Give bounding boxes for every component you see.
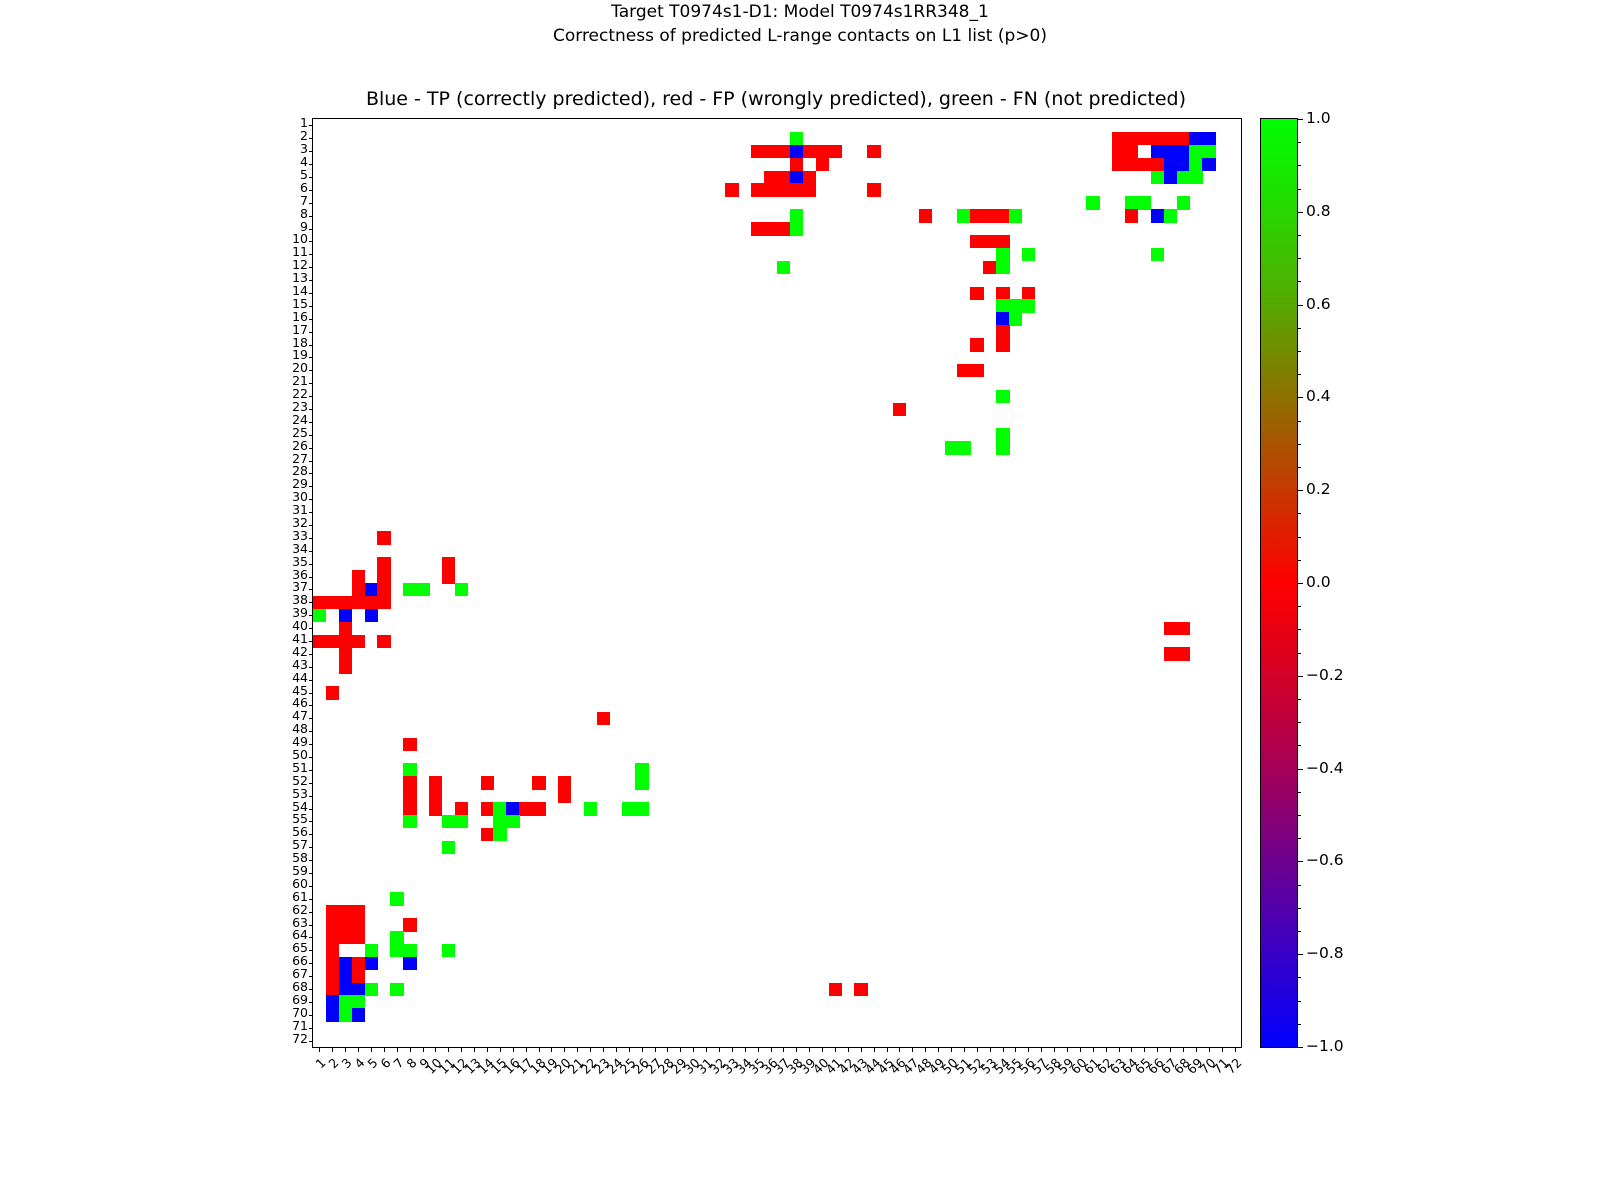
x-tick-mark <box>719 1048 720 1052</box>
y-tick-mark <box>309 770 313 771</box>
contact-cell <box>957 364 970 377</box>
contact-cell <box>996 390 1009 403</box>
contact-cell <box>493 815 506 828</box>
contact-cell <box>1189 171 1202 184</box>
contact-cell <box>390 892 403 905</box>
colorbar-minor-tick <box>1298 560 1301 561</box>
y-tick-mark <box>309 718 313 719</box>
x-tick-mark <box>526 1048 527 1052</box>
y-tick-mark <box>309 783 313 784</box>
contact-cell <box>403 583 416 596</box>
y-tick-mark <box>309 409 313 410</box>
x-tick-mark <box>1054 1048 1055 1052</box>
contact-cell <box>622 802 635 815</box>
contact-cell <box>777 145 790 158</box>
contact-cell <box>403 918 416 931</box>
x-tick-mark <box>745 1048 746 1052</box>
colorbar-tick-label: 0.2 <box>1306 480 1331 498</box>
contact-cell <box>442 570 455 583</box>
contact-cell <box>506 815 519 828</box>
colorbar-tick-label: 0.6 <box>1306 295 1331 313</box>
contact-cell <box>635 763 648 776</box>
y-tick-mark <box>309 1028 313 1029</box>
y-tick-mark <box>309 190 313 191</box>
contact-cell <box>945 441 958 454</box>
contact-cell <box>377 557 390 570</box>
y-tick-mark <box>309 731 313 732</box>
contact-cell <box>403 802 416 815</box>
x-tick-mark <box>332 1048 333 1052</box>
colorbar-tick-label: −0.4 <box>1306 759 1344 777</box>
y-tick-mark <box>309 757 313 758</box>
x-tick-mark <box>1209 1048 1210 1052</box>
colorbar-minor-tick <box>1298 374 1301 375</box>
contact-cell <box>558 789 571 802</box>
colorbar-minor-tick <box>1298 745 1301 746</box>
x-tick-mark <box>616 1048 617 1052</box>
x-tick-mark <box>1028 1048 1029 1052</box>
x-tick-mark <box>783 1048 784 1052</box>
contact-cell <box>777 222 790 235</box>
contact-cell <box>326 983 339 996</box>
colorbar-minor-tick <box>1298 351 1301 352</box>
y-tick-mark <box>309 899 313 900</box>
contact-cell <box>1202 158 1215 171</box>
colorbar-minor-tick <box>1298 977 1301 978</box>
x-tick-mark <box>371 1048 372 1052</box>
contact-cell <box>1022 299 1035 312</box>
x-tick-mark <box>1131 1048 1132 1052</box>
contact-cell <box>1164 171 1177 184</box>
contact-cell <box>1202 132 1215 145</box>
contact-cell <box>1138 158 1151 171</box>
contact-cell <box>996 261 1009 274</box>
x-tick-mark <box>925 1048 926 1052</box>
contact-cell <box>1125 196 1138 209</box>
colorbar-tick-mark <box>1298 397 1303 398</box>
contact-cell <box>790 132 803 145</box>
x-tick-mark <box>1235 1048 1236 1052</box>
colorbar-minor-tick <box>1298 629 1301 630</box>
contact-cell <box>339 931 352 944</box>
colorbar-tick-mark <box>1298 119 1303 120</box>
contact-cell <box>506 802 519 815</box>
x-tick-mark <box>1144 1048 1145 1052</box>
colorbar-tick-label: −0.6 <box>1306 851 1344 869</box>
contact-cell <box>1125 209 1138 222</box>
contact-cell <box>339 660 352 673</box>
contact-cell <box>377 583 390 596</box>
y-tick-mark <box>309 551 313 552</box>
contact-cell <box>996 428 1009 441</box>
x-tick-mark <box>1093 1048 1094 1052</box>
contact-cell <box>751 145 764 158</box>
contact-cell <box>481 776 494 789</box>
y-tick-mark <box>309 950 313 951</box>
colorbar-tick-label: −1.0 <box>1306 1037 1344 1055</box>
y-tick-mark <box>309 976 313 977</box>
contact-cell <box>326 957 339 970</box>
y-tick-mark <box>309 241 313 242</box>
colorbar-minor-tick <box>1298 537 1301 538</box>
contact-cell <box>1189 145 1202 158</box>
y-tick-mark <box>309 280 313 281</box>
contact-cell <box>1151 158 1164 171</box>
contact-cell <box>790 171 803 184</box>
colorbar-tick-mark <box>1298 676 1303 677</box>
x-tick-mark <box>1106 1048 1107 1052</box>
colorbar-tick-mark <box>1298 769 1303 770</box>
contact-cell <box>764 145 777 158</box>
contact-cell <box>339 957 352 970</box>
contact-cell <box>790 183 803 196</box>
y-tick-mark <box>309 473 313 474</box>
x-tick-mark <box>435 1048 436 1052</box>
contact-cell <box>584 802 597 815</box>
contact-cell <box>352 918 365 931</box>
contact-cell <box>352 583 365 596</box>
y-tick-mark <box>309 383 313 384</box>
contact-cell <box>339 918 352 931</box>
colorbar-minor-tick <box>1298 606 1301 607</box>
x-tick-mark <box>1015 1048 1016 1052</box>
contact-cell <box>970 364 983 377</box>
colorbar-tick-label: 0.4 <box>1306 387 1331 405</box>
colorbar-minor-tick <box>1298 699 1301 700</box>
colorbar-minor-tick <box>1298 142 1301 143</box>
x-tick-mark <box>603 1048 604 1052</box>
contact-cell <box>326 944 339 957</box>
x-tick-mark <box>474 1048 475 1052</box>
contact-cell <box>1164 647 1177 660</box>
x-tick-mark <box>590 1048 591 1052</box>
x-tick-mark <box>1183 1048 1184 1052</box>
x-tick-mark <box>1080 1048 1081 1052</box>
suptitle-line-1: Target T0974s1-D1: Model T0974s1RR348_1 <box>0 0 1600 24</box>
contact-cell <box>532 802 545 815</box>
contact-cell <box>313 596 326 609</box>
contact-cell <box>365 944 378 957</box>
contact-cell <box>416 583 429 596</box>
contact-cell <box>429 789 442 802</box>
colorbar-minor-tick <box>1298 1001 1301 1002</box>
x-tick-mark <box>487 1048 488 1052</box>
contact-cell <box>532 776 545 789</box>
x-tick-mark <box>564 1048 565 1052</box>
contact-cell <box>481 828 494 841</box>
y-tick-mark <box>309 448 313 449</box>
x-tick-mark <box>758 1048 759 1052</box>
contact-cell <box>996 312 1009 325</box>
contact-cell <box>1138 196 1151 209</box>
contact-cell <box>455 802 468 815</box>
contact-cell <box>983 209 996 222</box>
y-tick-mark <box>309 125 313 126</box>
contact-cell <box>326 918 339 931</box>
contact-cell <box>803 145 816 158</box>
x-tick-mark <box>835 1048 836 1052</box>
y-tick-mark <box>309 654 313 655</box>
contact-cell <box>1151 171 1164 184</box>
y-tick-mark <box>309 435 313 436</box>
colorbar-minor-tick <box>1298 931 1301 932</box>
contact-cell <box>493 828 506 841</box>
contact-cell <box>352 905 365 918</box>
contact-cell <box>365 596 378 609</box>
x-tick-mark <box>1196 1048 1197 1052</box>
x-tick-mark <box>809 1048 810 1052</box>
y-tick-mark <box>309 809 313 810</box>
contact-map-plot-area[interactable] <box>312 118 1242 1048</box>
y-tick-mark <box>309 512 313 513</box>
contact-cell <box>1138 132 1151 145</box>
contact-cell <box>996 299 1009 312</box>
contact-cell <box>1009 299 1022 312</box>
colorbar-minor-tick <box>1298 722 1301 723</box>
contact-cell <box>365 609 378 622</box>
y-tick-mark <box>309 1002 313 1003</box>
contact-cell <box>377 531 390 544</box>
y-tick-mark <box>309 925 313 926</box>
x-tick-mark <box>655 1048 656 1052</box>
x-tick-mark <box>680 1048 681 1052</box>
contact-cell <box>365 983 378 996</box>
contact-cell <box>996 248 1009 261</box>
contact-cell <box>377 596 390 609</box>
contact-cell <box>455 815 468 828</box>
y-tick-mark <box>309 834 313 835</box>
x-tick-mark <box>629 1048 630 1052</box>
contact-cell <box>983 235 996 248</box>
y-tick-mark <box>309 293 313 294</box>
y-tick-mark <box>309 705 313 706</box>
contact-cell <box>1009 209 1022 222</box>
contact-cell <box>339 635 352 648</box>
contact-cell <box>1202 145 1215 158</box>
x-tick-mark <box>358 1048 359 1052</box>
contact-cell <box>313 609 326 622</box>
x-tick-mark <box>693 1048 694 1052</box>
colorbar-minor-tick <box>1298 885 1301 886</box>
contact-cell <box>983 261 996 274</box>
contact-cell <box>854 983 867 996</box>
suptitle-line-2: Correctness of predicted L-range contact… <box>0 24 1600 48</box>
contact-cell <box>352 995 365 1008</box>
y-tick-label: 72 <box>292 1033 308 1046</box>
contact-cell <box>1112 145 1125 158</box>
y-tick-mark <box>309 937 313 938</box>
contact-cell <box>339 970 352 983</box>
x-tick-mark <box>410 1048 411 1052</box>
x-tick-mark <box>345 1048 346 1052</box>
y-tick-mark <box>309 628 313 629</box>
y-tick-mark <box>309 345 313 346</box>
contact-map-cells[interactable] <box>313 119 1241 1047</box>
contact-cell <box>339 596 352 609</box>
colorbar-minor-tick <box>1298 1024 1301 1025</box>
contact-cell <box>1177 647 1190 660</box>
contact-cell <box>816 145 829 158</box>
contact-cell <box>1177 196 1190 209</box>
contact-cell <box>790 145 803 158</box>
contact-cell <box>1177 171 1190 184</box>
y-tick-mark <box>309 680 313 681</box>
contact-cell <box>558 776 571 789</box>
y-tick-mark <box>309 963 313 964</box>
y-tick-mark <box>309 254 313 255</box>
colorbar-tick-label: 0.0 <box>1306 573 1331 591</box>
y-tick-mark <box>309 461 313 462</box>
contact-cell <box>1177 622 1190 635</box>
contact-cell <box>403 957 416 970</box>
contact-cell <box>1125 145 1138 158</box>
contact-cell <box>442 815 455 828</box>
colorbar-minor-tick <box>1298 513 1301 514</box>
x-tick-mark <box>667 1048 668 1052</box>
y-tick-mark <box>309 357 313 358</box>
contact-cell <box>893 403 906 416</box>
contact-cell <box>996 287 1009 300</box>
y-tick-mark <box>309 538 313 539</box>
y-tick-mark <box>309 525 313 526</box>
x-tick-mark <box>938 1048 939 1052</box>
x-tick-mark <box>500 1048 501 1052</box>
contact-cell <box>352 570 365 583</box>
contact-cell <box>326 596 339 609</box>
y-tick-mark <box>309 203 313 204</box>
contact-cell <box>377 570 390 583</box>
colorbar <box>1260 118 1298 1048</box>
y-tick-mark <box>309 1041 313 1042</box>
y-tick-mark <box>309 370 313 371</box>
colorbar-tick-label: −0.2 <box>1306 666 1344 684</box>
contact-cell <box>493 802 506 815</box>
contact-cell <box>1164 209 1177 222</box>
contact-cell <box>829 983 842 996</box>
y-tick-mark <box>309 860 313 861</box>
y-tick-mark <box>309 1015 313 1016</box>
contact-cell <box>957 441 970 454</box>
contact-cell <box>352 957 365 970</box>
contact-cell <box>764 171 777 184</box>
y-tick-mark <box>309 667 313 668</box>
contact-cell <box>867 183 880 196</box>
x-tick-mark <box>448 1048 449 1052</box>
contact-cell <box>390 983 403 996</box>
x-tick-mark <box>1222 1048 1223 1052</box>
contact-cell <box>352 1008 365 1021</box>
axes-title-legend: Blue - TP (correctly predicted), red - F… <box>312 88 1240 110</box>
x-tick-mark <box>848 1048 849 1052</box>
colorbar-minor-tick <box>1298 444 1301 445</box>
x-tick-mark <box>319 1048 320 1052</box>
contact-cell <box>1086 196 1099 209</box>
colorbar-minor-tick <box>1298 189 1301 190</box>
contact-cell <box>352 596 365 609</box>
contact-cell <box>816 158 829 171</box>
contact-cell <box>777 171 790 184</box>
y-tick-mark <box>309 615 313 616</box>
y-tick-mark <box>309 693 313 694</box>
contact-cell <box>790 158 803 171</box>
contact-cell <box>996 338 1009 351</box>
x-tick-mark <box>551 1048 552 1052</box>
colorbar-minor-tick <box>1298 328 1301 329</box>
contact-cell <box>867 145 880 158</box>
contact-cell <box>339 1008 352 1021</box>
contact-cell <box>919 209 932 222</box>
colorbar-tick-label: −0.8 <box>1306 944 1344 962</box>
contact-cell <box>970 338 983 351</box>
contact-cell <box>957 209 970 222</box>
contact-cell <box>377 635 390 648</box>
contact-cell <box>1177 145 1190 158</box>
x-tick-mark <box>1067 1048 1068 1052</box>
contact-cell <box>996 325 1009 338</box>
contact-cell <box>339 995 352 1008</box>
contact-cell <box>326 635 339 648</box>
x-tick-mark <box>1157 1048 1158 1052</box>
contact-cell <box>326 931 339 944</box>
contact-cell <box>1164 158 1177 171</box>
contact-cell <box>597 712 610 725</box>
x-tick-mark <box>577 1048 578 1052</box>
y-tick-mark <box>309 319 313 320</box>
contact-cell <box>442 557 455 570</box>
colorbar-minor-tick <box>1298 653 1301 654</box>
contact-cell <box>352 635 365 648</box>
x-tick-mark <box>706 1048 707 1052</box>
x-tick-mark <box>964 1048 965 1052</box>
colorbar-tick-mark <box>1298 1047 1303 1048</box>
contact-cell <box>1009 312 1022 325</box>
contact-cell <box>442 841 455 854</box>
contact-cell <box>455 583 468 596</box>
contact-cell <box>481 802 494 815</box>
contact-cell <box>635 776 648 789</box>
contact-cell <box>1189 158 1202 171</box>
contact-cell <box>1151 209 1164 222</box>
x-tick-mark <box>1170 1048 1171 1052</box>
contact-cell <box>365 583 378 596</box>
contact-cell <box>970 287 983 300</box>
y-tick-mark <box>309 177 313 178</box>
colorbar-minor-tick <box>1298 258 1301 259</box>
colorbar-tick-mark <box>1298 212 1303 213</box>
colorbar-minor-tick <box>1298 467 1301 468</box>
contact-cell <box>429 776 442 789</box>
contact-cell <box>725 183 738 196</box>
colorbar-tick-label: 0.8 <box>1306 202 1331 220</box>
x-tick-mark <box>1041 1048 1042 1052</box>
contact-cell <box>1189 132 1202 145</box>
contact-cell <box>1164 132 1177 145</box>
x-tick-mark <box>861 1048 862 1052</box>
contact-cell <box>339 905 352 918</box>
contact-cell <box>390 931 403 944</box>
figure-suptitle: Target T0974s1-D1: Model T0974s1RR348_1 … <box>0 0 1600 48</box>
contact-cell <box>996 441 1009 454</box>
y-tick-mark <box>309 796 313 797</box>
x-tick-mark <box>1003 1048 1004 1052</box>
contact-cell <box>339 609 352 622</box>
contact-cell <box>1177 158 1190 171</box>
colorbar-minor-tick <box>1298 421 1301 422</box>
contact-cell <box>1125 158 1138 171</box>
contact-cell <box>803 171 816 184</box>
contact-cell <box>390 944 403 957</box>
x-tick-mark <box>899 1048 900 1052</box>
